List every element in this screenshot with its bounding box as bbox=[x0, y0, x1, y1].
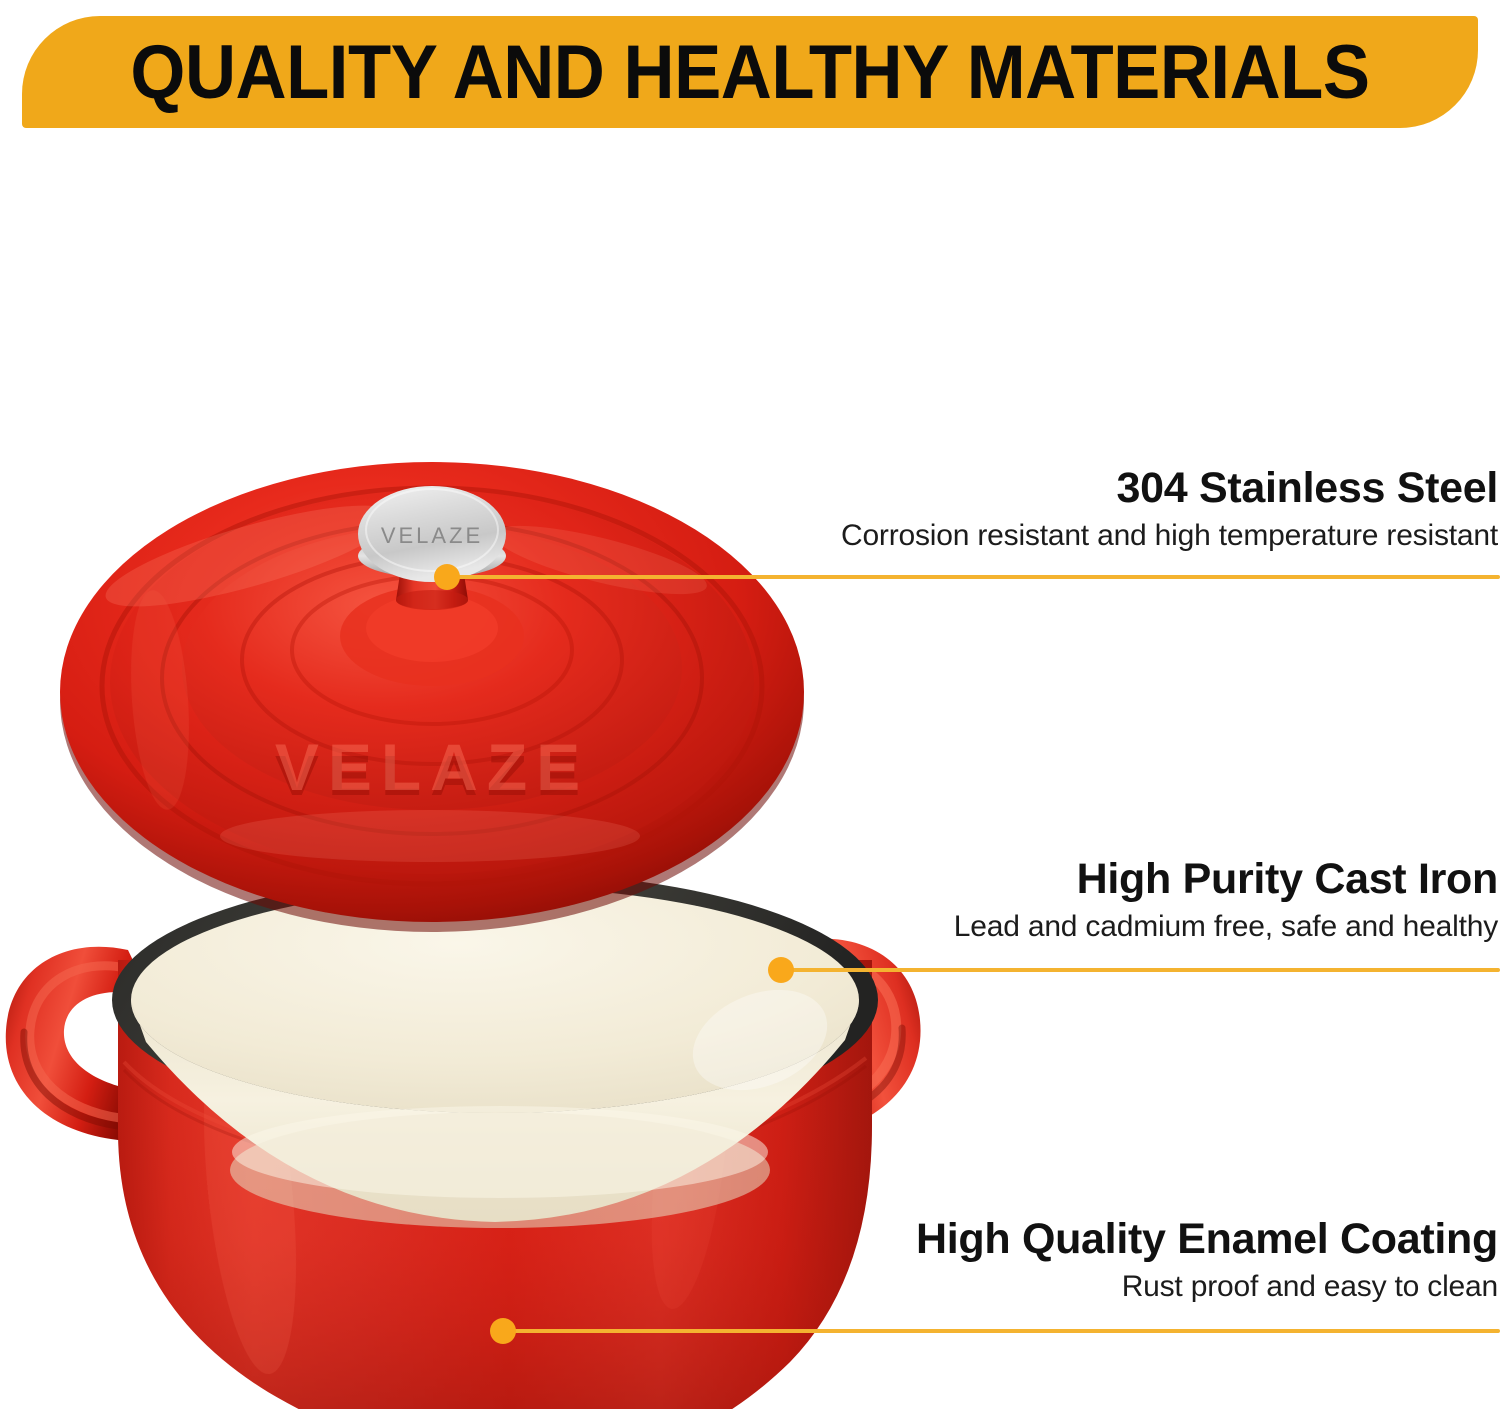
pot-interior-opening bbox=[131, 887, 859, 1113]
pot-rim bbox=[112, 872, 878, 1128]
leader-line-stainless-steel bbox=[447, 575, 1500, 579]
knob-brand-text: VELAZE bbox=[381, 523, 483, 548]
leader-dot-stainless-steel bbox=[434, 564, 460, 590]
product-illustration: VELAZE VELAZE VELAZE bbox=[0, 0, 1500, 1409]
callout-subtitle-enamel-coating: Rust proof and easy to clean bbox=[916, 1269, 1498, 1305]
svg-text:VELAZE: VELAZE bbox=[275, 744, 589, 808]
callout-subtitle-cast-iron: Lead and cadmium free, safe and healthy bbox=[954, 909, 1498, 945]
callout-title-enamel-coating: High Quality Enamel Coating bbox=[916, 1216, 1498, 1262]
banner-title: QUALITY AND HEALTHY MATERIALS bbox=[73, 16, 1427, 128]
lid-outer-plate bbox=[60, 462, 804, 922]
knob-rim bbox=[358, 534, 506, 578]
callout-enamel-coating: High Quality Enamel Coating Rust proof a… bbox=[916, 1216, 1498, 1305]
callout-cast-iron: High Purity Cast Iron Lead and cadmium f… bbox=[954, 856, 1498, 945]
header-banner: QUALITY AND HEALTHY MATERIALS bbox=[22, 16, 1478, 128]
lid-inner-plate bbox=[110, 490, 754, 874]
callout-subtitle-stainless-steel: Corrosion resistant and high temperature… bbox=[841, 518, 1498, 554]
svg-text:VELAZE: VELAZE bbox=[275, 730, 589, 804]
pot-lid-group: VELAZE VELAZE VELAZE bbox=[60, 462, 804, 932]
callout-title-cast-iron: High Purity Cast Iron bbox=[954, 856, 1498, 902]
callout-title-stainless-steel: 304 Stainless Steel bbox=[841, 465, 1498, 511]
pot-interior-wall bbox=[131, 1000, 859, 1222]
lid-knob-disc bbox=[358, 486, 506, 582]
pot-handle-left bbox=[6, 947, 150, 1140]
callout-stainless-steel: 304 Stainless Steel Corrosion resistant … bbox=[841, 465, 1498, 554]
lid-emboss-velaze: VELAZE VELAZE bbox=[275, 730, 589, 808]
leader-dot-enamel-coating bbox=[490, 1318, 516, 1344]
lid-dome bbox=[182, 526, 682, 810]
infographic-page: VELAZE VELAZE VELAZE QUALITY AND HEALTHY… bbox=[0, 0, 1500, 1409]
leader-line-enamel-coating bbox=[503, 1329, 1500, 1333]
leader-line-cast-iron bbox=[781, 968, 1500, 972]
leader-dot-cast-iron bbox=[768, 957, 794, 983]
